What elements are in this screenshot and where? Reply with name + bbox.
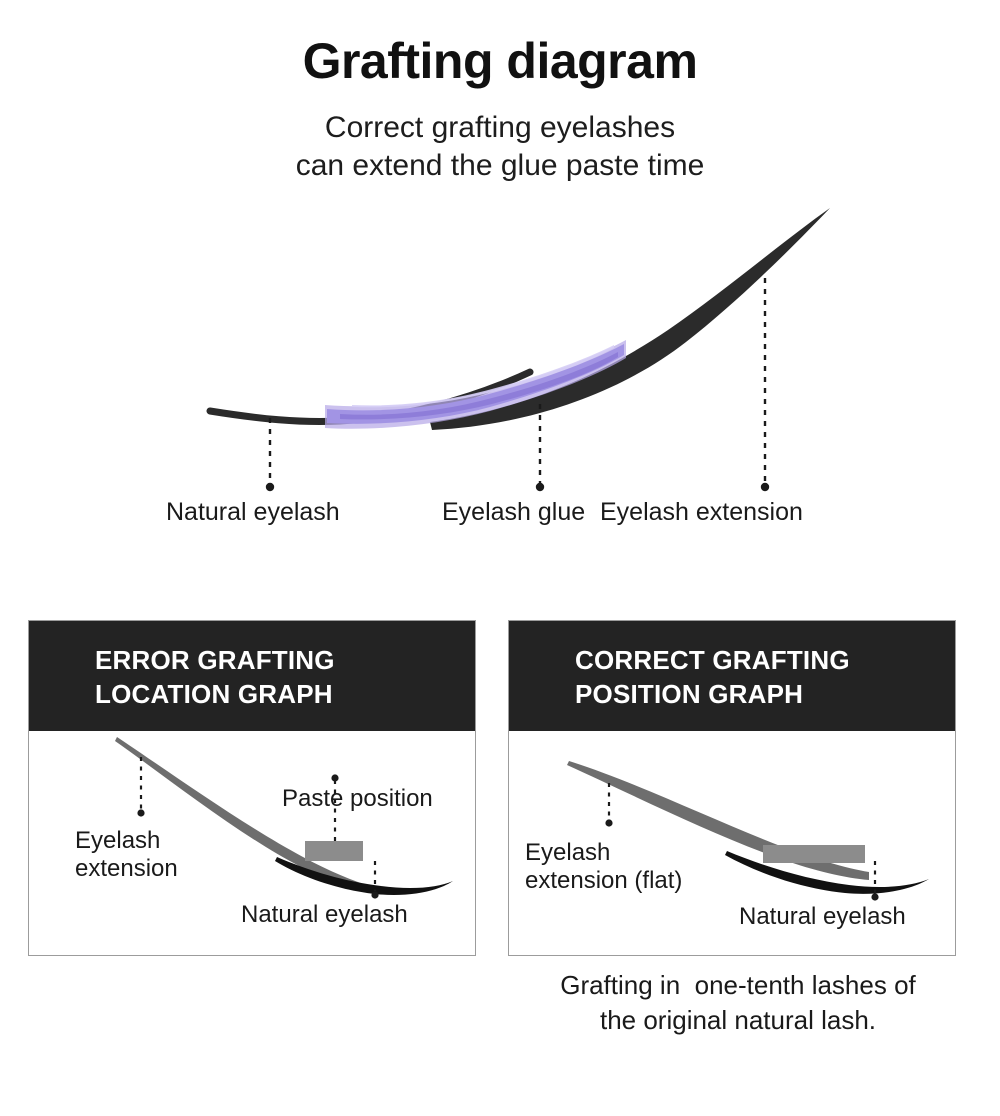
- error-label-natural-eyelash: Natural eyelash: [241, 901, 408, 929]
- correct-label-natural-eyelash: Natural eyelash: [739, 903, 906, 931]
- panel-error-header-line-2: LOCATION GRAPH: [95, 677, 475, 711]
- caption-line-2: the original natural lash.: [508, 1003, 968, 1038]
- error-label-extension-line-2: extension: [75, 855, 178, 883]
- panel-correct-header-line-1: CORRECT GRAFTING: [575, 643, 955, 677]
- leader-eyelash-extension: [761, 278, 769, 491]
- error-label-eyelash-extension: Eyelash extension: [75, 827, 178, 884]
- hero-label-eyelash-extension: Eyelash extension: [600, 500, 803, 525]
- subtitle-line-1: Correct grafting eyelashes: [0, 109, 1000, 147]
- panel-correct-body: Eyelash extension (flat) Natural eyelash: [509, 731, 955, 955]
- panel-correct-header: CORRECT GRAFTING POSITION GRAPH: [509, 621, 955, 731]
- correct-paste-position-rect: [763, 845, 865, 863]
- correct-label-extension-line-2: extension (flat): [525, 867, 682, 895]
- correct-leader-extension: [605, 783, 612, 827]
- hero-label-eyelash-glue: Eyelash glue: [442, 500, 585, 525]
- leader-natural-eyelash: [266, 418, 274, 491]
- hero-label-natural-eyelash: Natural eyelash: [166, 500, 340, 525]
- hero-grafting-diagram: Natural eyelash Eyelash glue Eyelash ext…: [0, 190, 1000, 560]
- correct-label-extension-line-1: Eyelash: [525, 839, 682, 867]
- correct-label-eyelash-extension: Eyelash extension (flat): [525, 839, 682, 896]
- panel-error-header: ERROR GRAFTING LOCATION GRAPH: [29, 621, 475, 731]
- subtitle-line-2: can extend the glue paste time: [0, 147, 1000, 185]
- panel-error-header-line-1: ERROR GRAFTING: [95, 643, 475, 677]
- panel-caption: Grafting in one-tenth lashes of the orig…: [508, 968, 968, 1037]
- panel-error-body: Eyelash extension Paste position Natural…: [29, 731, 475, 955]
- panel-error-grafting: ERROR GRAFTING LOCATION GRAPH: [28, 620, 476, 956]
- error-paste-position-rect: [305, 841, 363, 861]
- error-label-paste-position: Paste position: [282, 785, 433, 813]
- subtitle-block: Correct grafting eyelashes can extend th…: [0, 109, 1000, 185]
- caption-line-1: Grafting in one-tenth lashes of: [508, 968, 968, 1003]
- correct-leader-natural-eyelash: [871, 861, 878, 901]
- panel-correct-grafting: CORRECT GRAFTING POSITION GRAPH Eyelash …: [508, 620, 956, 956]
- leader-eyelash-glue: [536, 404, 544, 491]
- error-leader-extension: [137, 757, 144, 817]
- header-block: Grafting diagram Correct grafting eyelas…: [0, 0, 1000, 185]
- panel-correct-header-line-2: POSITION GRAPH: [575, 677, 955, 711]
- error-label-extension-line-1: Eyelash: [75, 827, 178, 855]
- error-leader-natural-eyelash: [371, 861, 378, 899]
- page-title: Grafting diagram: [0, 0, 1000, 89]
